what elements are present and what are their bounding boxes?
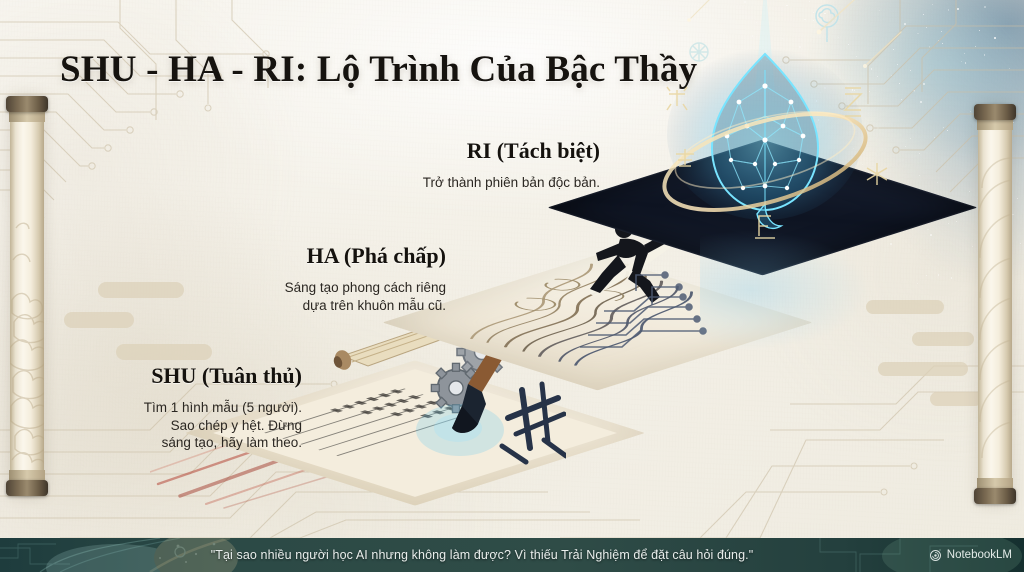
stage-ha-line-1: Sáng tạo phong cách riêng [285,279,446,297]
stage-block-ha: HA (Phá chấp) Sáng tạo phong cách riêng … [285,243,446,314]
footer-bar: "Tại sao nhiều người học AI nhưng không … [0,538,1024,572]
stage-shu-line-1: Tìm 1 hình mẫu (5 người). [144,399,302,417]
stage-heading-shu: SHU (Tuân thủ) [144,363,302,389]
stage-heading-ha: HA (Phá chấp) [285,243,446,269]
stage-description-ha: Sáng tạo phong cách riêng dựa trên khuôn… [285,279,446,314]
notebooklm-logo-icon [929,549,942,562]
brain-chip-icon [816,5,838,42]
stage-ha-line-2: dựa trên khuôn mẫu cũ. [285,297,446,315]
stage-description-shu: Tìm 1 hình mẫu (5 người). Sao chép y hệt… [144,399,302,452]
stage-block-ri: RI (Tách biệt) Trở thành phiên bản độc b… [423,138,600,192]
infographic-slide: SHU - HA - RI: Lộ Trình Của Bậc Thầy [0,0,1024,572]
stage-block-shu: SHU (Tuân thủ) Tìm 1 hình mẫu (5 người).… [144,363,302,452]
brand-label: NotebookLM [947,549,1012,561]
snowflake-icon [690,43,708,61]
slab-ri [655,100,870,315]
stage-ri-line-1: Trở thành phiên bản độc bản. [423,174,600,192]
notebooklm-badge: NotebookLM [929,538,1012,572]
stage-description-ri: Trở thành phiên bản độc bản. [423,174,600,192]
stage-heading-ri: RI (Tách biệt) [423,138,600,164]
shuhari-illustration [0,0,1024,540]
stage-shu-line-2: Sao chép y hệt. Đừng [144,417,302,435]
comet-icons [687,0,901,68]
stage-shu-line-3: sáng tạo, hãy làm theo. [144,434,302,452]
footer-quote: "Tại sao nhiều người học AI nhưng không … [0,538,1024,572]
